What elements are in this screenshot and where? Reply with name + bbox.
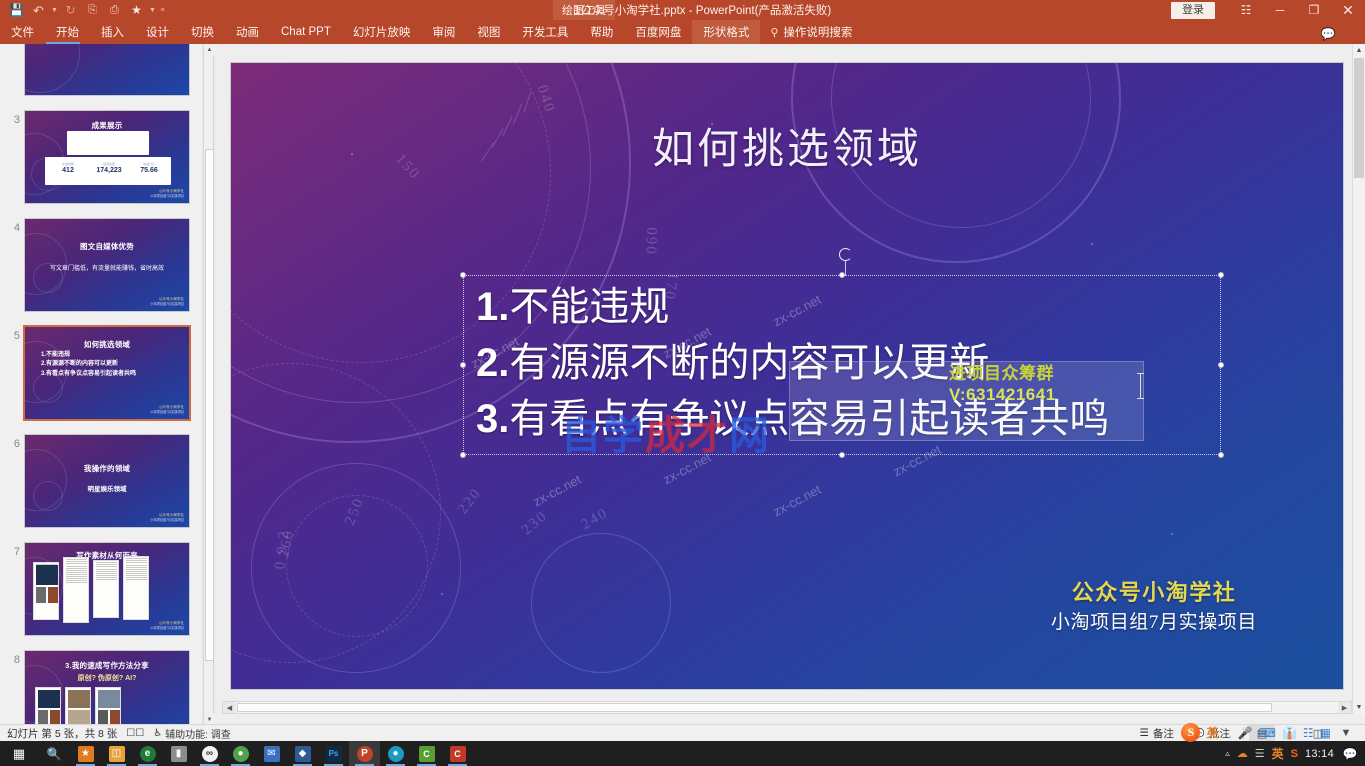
text-cursor-icon xyxy=(1140,373,1141,399)
tab-baidu-netdisk[interactable]: 百度网盘 xyxy=(624,20,692,44)
resize-handle-ne[interactable] xyxy=(1218,272,1224,278)
favorite-star-icon[interactable]: ★ xyxy=(126,1,147,20)
accessibility-status[interactable]: ♿ 辅助功能: 调查 xyxy=(153,726,231,741)
tray-expand-chevron-icon[interactable]: ▵ xyxy=(1225,748,1230,759)
ime-toolbox-icon[interactable]: ☷ xyxy=(1303,726,1314,740)
slide-thumbnail[interactable] xyxy=(24,44,190,96)
lightbulb-icon: ⚲ xyxy=(770,26,778,39)
ribbon-tabs: 文件 开始 插入 设计 切换 动画 Chat PPT 幻灯片放映 审阅 视图 开… xyxy=(0,20,862,44)
slide-thumbnail[interactable]: 我操作的领域 明星娱乐领域 公众号小淘学社 小淘项目组7月实操项目 xyxy=(24,434,190,528)
thumbnail-bullet: 1.不能违规 xyxy=(41,351,136,360)
tray-network-icon[interactable]: ☰ xyxy=(1255,747,1265,760)
slide-footer-line1: 公众号小淘学社 xyxy=(1051,576,1257,609)
notification-center-icon[interactable]: 💬 xyxy=(1341,747,1359,761)
thumbnail-stat-value: 75.66 xyxy=(131,167,167,174)
thumbnail-bullets: 1.不能违规 2.有源源不断的内容可以更新 3.有看点有争议点容易引起读者共鸣 xyxy=(41,351,136,379)
watermark-part2: 成才 xyxy=(645,413,729,458)
thumbnail-number: 8 xyxy=(6,654,20,666)
thumbnail-footer: 公众号小淘学社 小淘项目组7月实操项目 xyxy=(150,297,184,306)
status-bar: 幻灯片 第 5 张，共 8 张 ☐☐ ♿ 辅助功能: 调查 ☰ 备注 💬 批注 … xyxy=(0,724,1365,741)
title-bar: 💾 ↶ ▼ ↻ ⎘ ⎙ ★ ▼ ≡ 绘图工具 1公众号小淘学社.pptx - P… xyxy=(0,0,1365,20)
ribbon-display-options-icon[interactable]: ☷ xyxy=(1229,0,1263,20)
watermark-site-name: 自学成才网 xyxy=(561,403,771,461)
resize-handle-se[interactable] xyxy=(1218,452,1224,458)
thumbnail-number: 6 xyxy=(6,438,20,450)
start-from-beginning-icon[interactable]: ⎘ xyxy=(82,1,103,20)
start-presentation-icon[interactable]: ⎙ xyxy=(104,1,125,20)
minimize-icon[interactable]: ─ xyxy=(1263,0,1297,20)
canvas-horizontal-scrollbar[interactable]: ◀ ▶ xyxy=(222,701,1352,714)
resize-handle-sw[interactable] xyxy=(460,452,466,458)
ime-skin-icon[interactable]: 👔 xyxy=(1282,726,1297,740)
resize-handle-w[interactable] xyxy=(460,362,466,368)
thumbnail-item[interactable]: 3 成果展示 412 174,223 75.66 文章篇数 总阅读量 xyxy=(0,106,196,214)
thumbnail-subtitle: 原创? 伪原创? AI? xyxy=(25,673,189,683)
tab-file[interactable]: 文件 xyxy=(0,20,45,44)
ime-mic-icon[interactable]: 🎤 xyxy=(1238,726,1253,740)
qat-customize-icon[interactable]: ▼ xyxy=(148,7,157,14)
watermark-part3: 网 xyxy=(729,413,771,458)
thumbnail-list: 3 成果展示 412 174,223 75.66 文章篇数 总阅读量 xyxy=(0,44,196,726)
comment-icon[interactable]: 💬 xyxy=(1315,24,1341,44)
scroll-up-icon[interactable]: ▲ xyxy=(204,44,215,56)
taskbar-item-photoshop[interactable]: Ps xyxy=(318,741,349,766)
taskbar-item-app-red[interactable]: C xyxy=(442,741,473,766)
slide-thumbnail[interactable]: 图文自媒体优势 写文章门槛低，有流量就能赚钱，省时高效 公众号小淘学社 小淘项目… xyxy=(24,218,190,312)
tab-chat-ppt[interactable]: Chat PPT xyxy=(270,20,342,44)
slide-thumbnail[interactable]: 3.我的速成写作方法分享 原创? 伪原创? AI? xyxy=(24,650,190,726)
taskbar-item-app-white[interactable]: ∞ xyxy=(194,741,225,766)
tab-review[interactable]: 审阅 xyxy=(421,20,466,44)
search-icon[interactable]: 🔍 xyxy=(38,747,70,761)
thumbnail-pane-scrollbar[interactable]: ▲ ▼ xyxy=(203,44,214,726)
ime-drag-handle[interactable]: − xyxy=(1169,727,1175,739)
scrollbar-thumb[interactable] xyxy=(237,703,1272,712)
scroll-left-icon[interactable]: ◀ xyxy=(223,702,236,713)
thumbnail-title: 图文自媒体优势 xyxy=(25,241,189,252)
thumbnail-stat-label: 文章篇数 xyxy=(51,162,85,166)
clock[interactable]: 13:14 xyxy=(1305,748,1334,760)
ime-keyboard-icon[interactable]: ⌨ xyxy=(1259,726,1276,740)
bullet-number: 3. xyxy=(476,397,509,441)
slide-footer-line2: 小淘项目组7月实操项目 xyxy=(1051,609,1257,638)
thumbnail-subtitle: 明星娱乐领域 xyxy=(25,483,189,493)
taskbar-item-app-green[interactable]: C xyxy=(411,741,442,766)
thumbnail-title: 我操作的领域 xyxy=(25,463,189,474)
qat-overflow-icon[interactable]: ≡ xyxy=(158,7,167,14)
watermark-part1: 自学 xyxy=(561,413,645,458)
thumbnail-number: 4 xyxy=(6,222,20,234)
thumbnail-item-selected[interactable]: 5 如何挑选领域 1.不能违规 2.有源源不断的内容可以更新 3.有看点有争议点… xyxy=(0,322,196,430)
canvas-vertical-scrollbar[interactable]: ▲ ▼ xyxy=(1352,44,1365,714)
scrollbar-thumb[interactable] xyxy=(1354,58,1364,178)
thumbnail-number: 3 xyxy=(6,114,20,126)
thumbnail-footer-line2: 小淘项目组7月实操项目 xyxy=(150,410,184,414)
taskbar-item-file-explorer[interactable]: ◫ xyxy=(101,741,132,766)
bullet-text: 不能违规 xyxy=(509,284,669,329)
thumbnail-stat-value: 174,223 xyxy=(87,167,131,174)
thumbnail-footer-line2: 小淘项目组7月实操项目 xyxy=(150,518,184,522)
taskbar-item-usb-drive[interactable]: ▮ xyxy=(163,741,194,766)
resize-handle-n[interactable] xyxy=(839,272,845,278)
taskbar-item-chrome[interactable]: ● xyxy=(225,741,256,766)
thumbnail-footer-line2: 小淘项目组7月实操项目 xyxy=(150,626,184,630)
save-icon[interactable]: 💾 xyxy=(6,1,27,20)
slide-thumbnail[interactable]: 成果展示 412 174,223 75.66 文章篇数 总阅读量 收益(元) 公… xyxy=(24,110,190,204)
tab-slideshow[interactable]: 幻灯片放映 xyxy=(342,20,422,44)
thumbnail-item[interactable]: 4 图文自媒体优势 写文章门槛低，有流量就能赚钱，省时高效 公众号小淘学社 小淘… xyxy=(0,214,196,322)
thumbnail-footer: 公众号小淘学社 小淘项目组7月实操项目 xyxy=(150,621,184,630)
watermark-promo-line2: V:631421641 xyxy=(949,384,1056,405)
thumbnail-footer: 公众号小淘学社 小淘项目组7月实操项目 xyxy=(150,513,184,522)
thumbnail-item[interactable]: 8 3.我的速成写作方法分享 原创? 伪原创? AI? xyxy=(0,646,196,726)
taskbar-item-app-teal[interactable]: ● xyxy=(380,741,411,766)
sign-in-button[interactable]: 登录 xyxy=(1171,2,1215,19)
scrollbar-thumb[interactable] xyxy=(205,149,214,661)
thumbnail-stat-value: 412 xyxy=(51,167,85,174)
redo-icon[interactable]: ↻ xyxy=(60,1,81,20)
thumbnail-bullet: 2.有源源不断的内容可以更新 xyxy=(41,360,136,369)
tell-me-search[interactable]: ⚲ 操作说明搜索 xyxy=(760,20,862,44)
thumbnail-item-partial[interactable] xyxy=(0,44,196,106)
slide-canvas[interactable]: 040 150 090 170 220 230 240 250 260 0 9 … xyxy=(231,63,1343,689)
tab-home[interactable]: 开始 xyxy=(45,20,90,44)
taskbar-item-powerpoint[interactable]: P xyxy=(349,741,380,766)
thumb-decoration xyxy=(25,44,189,95)
scroll-down-icon[interactable]: ▼ xyxy=(1353,701,1365,714)
thumbnail-stat-label: 收益(元) xyxy=(131,162,167,166)
thumbnail-item[interactable]: 6 我操作的领域 明星娱乐领域 公众号小淘学社 小淘项目组7月实操项目 xyxy=(0,430,196,538)
language-icon[interactable]: ☐☐ xyxy=(126,728,144,739)
slide-thumbnail[interactable]: 如何挑选领域 1.不能违规 2.有源源不断的内容可以更新 3.有看点有争议点容易… xyxy=(23,325,191,421)
tab-transitions[interactable]: 切换 xyxy=(180,20,225,44)
thumbnail-title: 3.我的速成写作方法分享 xyxy=(25,660,189,671)
taskbar-item-messenger[interactable]: ✉ xyxy=(256,741,287,766)
thumbnail-footer: 公众号小淘学社 小淘项目组7月实操项目 xyxy=(150,405,184,414)
thumbnail-stat-label: 总阅读量 xyxy=(87,162,131,166)
resize-handle-nw[interactable] xyxy=(460,272,466,278)
status-bar-left: 幻灯片 第 5 张，共 8 张 ☐☐ ♿ 辅助功能: 调查 xyxy=(0,726,231,741)
windows-start-icon[interactable]: ▦ xyxy=(0,741,38,766)
ribbon-tab-strip: 文件 开始 插入 设计 切换 动画 Chat PPT 幻灯片放映 审阅 视图 开… xyxy=(0,20,1365,44)
thumbnail-title: 成果展示 xyxy=(25,120,189,131)
quick-access-toolbar: 💾 ↶ ▼ ↻ ⎘ ⎙ ★ ▼ ≡ xyxy=(6,0,167,20)
sogou-logo-icon[interactable]: S xyxy=(1181,723,1200,742)
tab-insert[interactable]: 插入 xyxy=(90,20,135,44)
rotate-stem xyxy=(845,260,846,276)
taskbar-item-explorer-orange[interactable]: ★ xyxy=(70,741,101,766)
watermark-promo-line1: 进项目众筹群 xyxy=(949,363,1056,384)
slide-counter[interactable]: 幻灯片 第 5 张，共 8 张 xyxy=(7,726,117,741)
tray-sogou-icon[interactable]: S xyxy=(1291,748,1298,760)
slide-title[interactable]: 如何挑选领域 xyxy=(231,115,1343,176)
ime-mode-label[interactable]: 英 xyxy=(1206,724,1218,741)
slide-bullet-1: 1.不能违规 xyxy=(476,274,669,332)
undo-dropdown-icon[interactable]: ▼ xyxy=(50,7,59,14)
powerpoint-window: 💾 ↶ ▼ ↻ ⎘ ⎙ ★ ▼ ≡ 绘图工具 1公众号小淘学社.pptx - P… xyxy=(0,0,1365,766)
system-tray: ▵ ☁ ☰ 英 S 13:14 💬 xyxy=(1225,745,1365,762)
tell-me-label: 操作说明搜索 xyxy=(783,24,852,40)
window-controls: 登录 ☷ ─ ❐ ✕ xyxy=(1171,0,1365,20)
thumbnail-title: 如何挑选领域 xyxy=(25,339,189,350)
thumbnail-subtitle: 写文章门槛低，有流量就能赚钱，省时高效 xyxy=(25,263,189,272)
tab-view[interactable]: 视图 xyxy=(466,20,511,44)
window-title: 1公众号小淘学社.pptx - PowerPoint(产品激活失败) xyxy=(0,0,1365,20)
tab-design[interactable]: 设计 xyxy=(135,20,180,44)
close-icon[interactable]: ✕ xyxy=(1331,0,1365,20)
taskbar-item-edge[interactable]: e xyxy=(132,741,163,766)
thumbnail-footer: 公众号小淘学社 小淘项目组7月实操项目 xyxy=(150,189,184,198)
undo-icon[interactable]: ↶ xyxy=(28,1,49,20)
watermark-tiled: zx-cc.net xyxy=(771,482,824,520)
tab-help[interactable]: 帮助 xyxy=(579,20,624,44)
notes-icon: ☰ xyxy=(1140,727,1149,739)
work-area: 3 成果展示 412 174,223 75.66 文章篇数 总阅读量 xyxy=(0,44,1365,726)
watermark-promo: 进项目众筹群 V:631421641 xyxy=(949,363,1056,406)
tray-onedrive-icon[interactable]: ☁ xyxy=(1237,747,1248,760)
slide-canvas-area: 040 150 090 170 220 230 240 250 260 0 9 … xyxy=(215,44,1365,726)
thumbnail-footer-line2: 小淘项目组7月实操项目 xyxy=(150,194,184,198)
slide-thumbnail[interactable]: 写作素材从何而来 xyxy=(24,542,190,636)
scroll-right-icon[interactable]: ▶ xyxy=(1338,702,1351,713)
thumbnail-item[interactable]: 7 写作素材从何而来 xyxy=(0,538,196,646)
bullet-number: 2. xyxy=(476,341,509,385)
contextual-tab-group-label: 绘图工具 xyxy=(553,0,615,20)
slide-footer: 公众号小淘学社 小淘项目组7月实操项目 xyxy=(1051,576,1257,638)
resize-handle-s[interactable] xyxy=(839,452,845,458)
thumbnail-number: 7 xyxy=(6,546,20,558)
thumbnail-footer-line2: 小淘项目组7月实操项目 xyxy=(150,302,184,306)
ime-apps-icon[interactable]: ▦ xyxy=(1320,726,1331,740)
taskbar-item-sublime[interactable]: ◆ xyxy=(287,741,318,766)
ime-toolbar[interactable]: − S 英 ‧, 🎤 ⌨ 👔 ☷ ▦ xyxy=(1163,721,1337,744)
windows-taskbar: ▦ 🔍 ★ ◫ e ▮ ∞ ● ✉ ◆ Ps P ● C C ▵ xyxy=(0,741,1365,766)
bullet-number: 1. xyxy=(476,285,509,329)
tab-shape-format[interactable]: 形状格式 xyxy=(692,20,760,44)
accessibility-icon: ♿ xyxy=(153,728,162,739)
thumbnail-number: 5 xyxy=(6,330,20,342)
tab-developer[interactable]: 开发工具 xyxy=(511,20,579,44)
slide-thumbnail-pane[interactable]: 3 成果展示 412 174,223 75.66 文章篇数 总阅读量 xyxy=(0,44,202,726)
scroll-up-icon[interactable]: ▲ xyxy=(1353,44,1365,57)
restore-icon[interactable]: ❐ xyxy=(1297,0,1331,20)
resize-handle-e[interactable] xyxy=(1218,362,1224,368)
tab-animations[interactable]: 动画 xyxy=(225,20,270,44)
thumbnail-bullet: 3.有看点有争议点容易引起读者共鸣 xyxy=(41,370,136,379)
ime-menu-icon[interactable]: ‧, xyxy=(1225,726,1232,740)
tray-ime-icon[interactable]: 英 xyxy=(1272,745,1284,762)
watermark-tiled: zx-cc.net xyxy=(531,472,584,510)
accessibility-label: 辅助功能: 调查 xyxy=(165,726,231,741)
